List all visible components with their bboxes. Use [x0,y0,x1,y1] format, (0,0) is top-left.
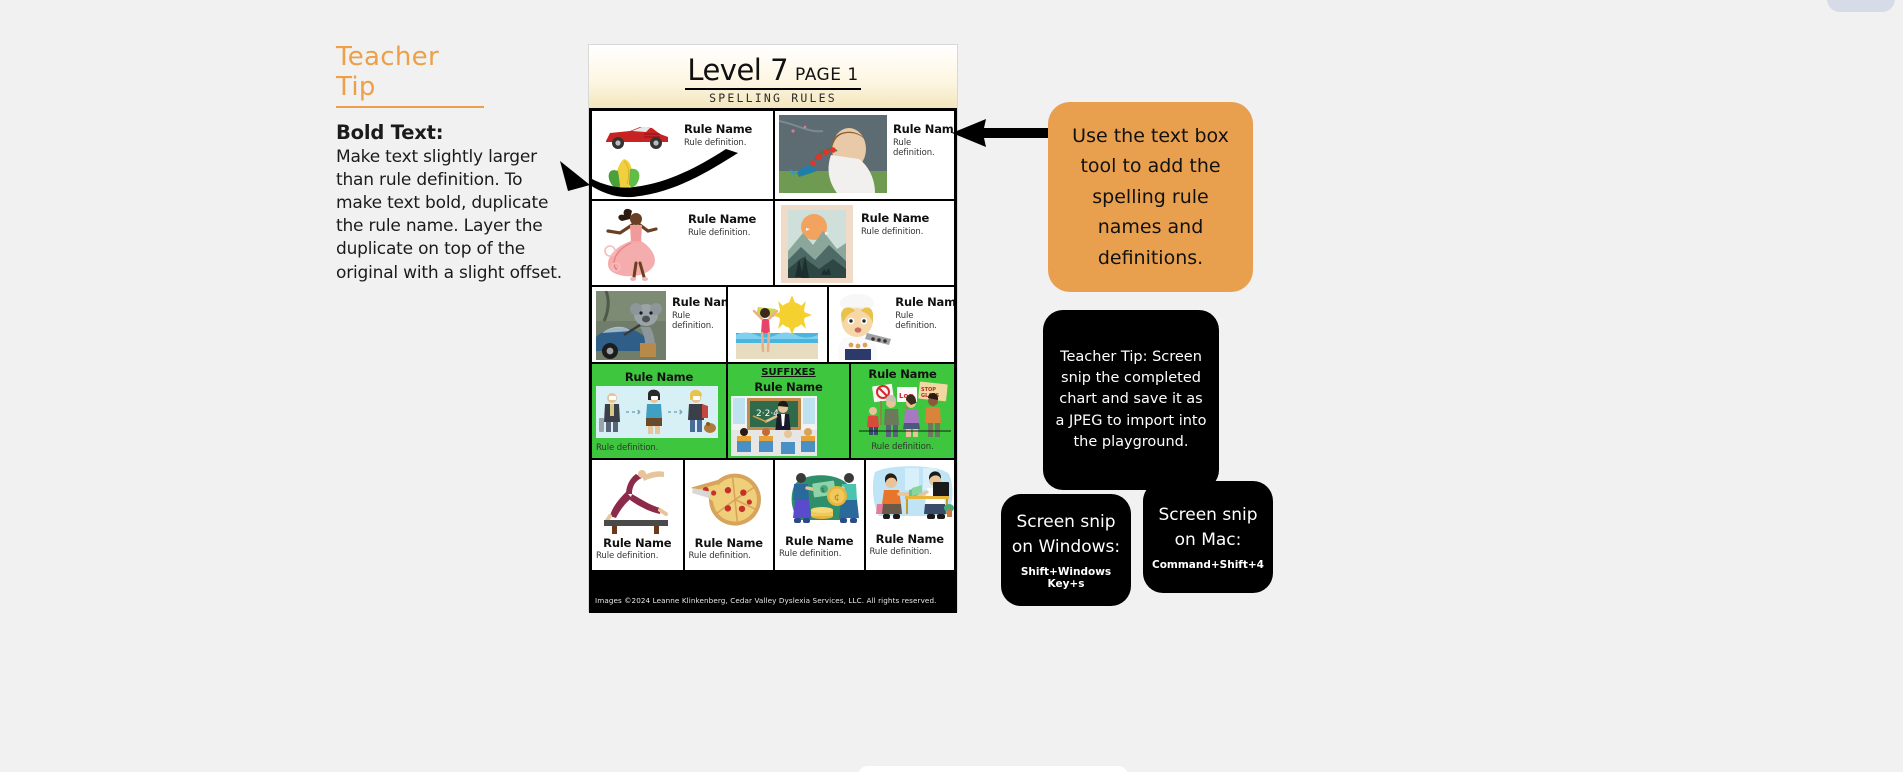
rule-name-label: Rule Name [684,122,752,136]
pizza-slices-icon [689,466,773,528]
baker-with-cookie-tray-icon [831,291,893,360]
rule-name-label: Rule Name [866,532,955,546]
left-teacher-tip-block: Teacher Tip Bold Text: Make text slightl… [336,42,568,285]
svg-text:¢: ¢ [834,493,840,503]
rule-name-label: Rule Name [775,534,864,548]
teacher-tip-heading: Teacher Tip [336,42,484,108]
top-right-partial-pill [1827,0,1895,12]
rule-cell[interactable]: $ ¢ Rule Name Rule definition. [773,460,864,570]
rule-name-label: Rule Name [688,212,756,226]
rule-cell[interactable]: Rule Name Rule definition. [592,201,773,285]
page-label: PAGE 1 [795,65,859,85]
bold-text-label: Bold Text: [336,121,568,144]
rule-cell[interactable]: Rule Name Log STOP GLASS [849,364,954,458]
copyright-footer: Images ©2024 Leanne Klinkenberg, Cedar V… [589,591,957,611]
rule-definition-label: Rule definition. [779,549,841,559]
rule-cell[interactable]: SUFFIXES Rule Name 2·2·4 [726,364,849,458]
mac-shortcut-keys: Command+Shift+4 [1152,559,1264,571]
suffixes-heading: SUFFIXES [728,367,849,378]
screenshot-root: Teacher Tip Bold Text: Make text slightl… [0,0,1903,772]
spelling-rules-chart[interactable]: Level 7PAGE 1 SPELLING RULES [588,44,958,612]
windows-shortcut-keys: Shift+Windows Key+s [1009,566,1123,590]
bottom-center-partial-panel [858,766,1128,772]
rule-cell[interactable]: Rule Name Rule definition. [827,287,954,362]
rule-name-label: Rule Name [851,367,954,381]
rule-cell[interactable]: Rule Name Rule definition. [592,111,773,199]
windows-shortcut-callout: Screen snip on Windows: Shift+Windows Ke… [1001,494,1131,606]
chart-subtitle: SPELLING RULES [589,91,957,105]
rule-definition-label: Rule definition. [870,547,932,557]
right-pointer-arrow [950,118,1060,148]
rule-definition-label: Rule definition. [596,443,658,453]
money-exchange-icon: $ ¢ [781,466,863,528]
rule-definition-label: Rule definition. [895,311,954,331]
woman-with-flowers-photo [779,115,887,193]
windows-shortcut-title: Screen snip on Windows: [1009,510,1123,559]
red-convertible-car-icon [600,121,672,151]
rule-definition-label: Rule definition. [684,138,746,148]
rule-name-label: Rule Name [592,370,726,384]
level-title: Level 7 [687,53,788,87]
chart-title-line: Level 7PAGE 1 [685,53,860,90]
mac-shortcut-callout: Screen snip on Mac: Command+Shift+4 [1143,481,1273,593]
corn-icon [602,155,652,195]
rule-cell[interactable]: Rule Name Rule definition. [773,201,954,285]
protesters-with-signs-icon: Log STOP GLASS [859,381,951,439]
rule-name-label: Rule Name [672,295,726,309]
rule-definition-label: Rule definition. [893,138,954,158]
table-row: Rule Name Rule definition. [592,458,954,570]
social-distancing-icon [596,386,718,438]
rule-cell[interactable]: Rule Name Rule definition. [773,111,954,199]
teacher-tip-callout: Teacher Tip: Screen snip the completed c… [1043,310,1219,490]
rule-name-label: Rule Name [728,380,849,394]
rule-cell[interactable]: Rule Name Rule definition. [864,460,955,570]
rule-cell[interactable]: Rule Name Rule definition. [683,460,774,570]
orange-instruction-callout: Use the text box tool to add the spellin… [1048,102,1253,292]
table-row: Rule Name Rule definition. [592,285,954,362]
table-row: Rule Name Rule definition. [592,111,954,199]
rule-name-label: Rule Name [893,122,954,136]
rule-cell[interactable] [726,287,827,362]
svg-text:$: $ [821,487,825,494]
rule-name-label: Rule Name [861,211,929,225]
mountain-sunset-poster-icon [781,205,853,283]
classroom-teacher-icon: 2·2·4 [731,396,817,456]
rule-definition-label: Rule definition. [688,228,750,238]
rule-definition-label: Rule definition. [596,551,658,561]
chart-header: Level 7PAGE 1 SPELLING RULES [589,45,957,108]
rule-definition-label: Rule definition. [861,227,923,237]
rule-cell[interactable]: Rule Name Rule definition. [592,460,683,570]
rule-cell[interactable]: Rule Name [592,364,726,458]
table-row: Rule Name [592,362,954,458]
gymnast-on-beam-icon [602,464,670,534]
surfer-with-sun-icon [736,293,818,359]
rule-name-label: Rule Name [685,536,774,550]
table-row: Rule Name Rule definition. [592,199,954,285]
rules-grid: Rule Name Rule definition. [589,108,957,613]
rule-definition-label: Rule definition. [672,311,726,331]
rule-definition-label: Rule definition. [851,442,954,452]
dancer-in-pink-dress-icon [596,205,682,283]
mac-shortcut-title: Screen snip on Mac: [1151,503,1265,552]
rule-cell[interactable]: Rule Name Rule definition. [592,287,726,362]
rule-name-label: Rule Name [592,536,683,550]
bold-text-instructions: Make text slightly larger than rule defi… [336,146,568,285]
koala-washing-car-photo [596,291,666,360]
bank-teller-icon [869,464,955,526]
rule-definition-label: Rule definition. [689,551,751,561]
rule-name-label: Rule Name [895,295,954,309]
